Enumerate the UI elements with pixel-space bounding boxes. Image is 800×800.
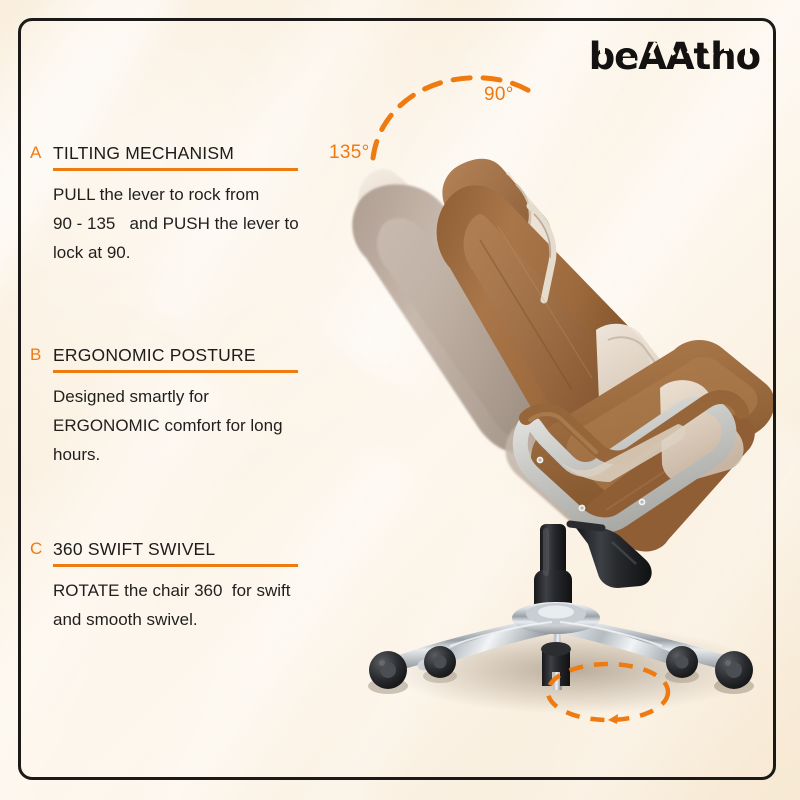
feature-heading-row: C 360 SWIFT SWIVEL <box>30 538 370 567</box>
feature-body-line: PULL the lever to rock from <box>53 180 370 209</box>
feature-block-ergonomic-posture: B ERGONOMIC POSTURE Designed smartly for… <box>30 344 370 469</box>
feature-heading-wrap: TILTING MECHANISM <box>53 142 370 171</box>
brand-logo: beAAtho <box>589 38 760 75</box>
feature-title-a: TILTING MECHANISM <box>53 142 370 164</box>
feature-underline-a <box>53 168 298 171</box>
feature-body-line: and smooth swivel. <box>53 605 370 634</box>
feature-body-line: lock at 90. <box>53 238 370 267</box>
feature-block-tilting-mechanism: A TILTING MECHANISM PULL the lever to ro… <box>30 142 370 267</box>
feature-heading-wrap: ERGONOMIC POSTURE <box>53 344 370 373</box>
feature-body-c: ROTATE the chair 360 for swift and smoot… <box>53 576 370 634</box>
feature-title-b: ERGONOMIC POSTURE <box>53 344 370 366</box>
feature-title-c: 360 SWIFT SWIVEL <box>53 538 370 560</box>
feature-underline-c <box>53 564 298 567</box>
feature-block-swift-swivel: C 360 SWIFT SWIVEL ROTATE the chair 360 … <box>30 538 370 634</box>
feature-heading-wrap: 360 SWIFT SWIVEL <box>53 538 370 567</box>
feature-body-line: hours. <box>53 440 370 469</box>
feature-body-a: PULL the lever to rock from 90 - 135 and… <box>53 180 370 267</box>
feature-body-line: 90 - 135 and PUSH the lever to <box>53 209 370 238</box>
feature-body-line: Designed smartly for <box>53 382 370 411</box>
feature-marker-c: C <box>30 538 53 560</box>
feature-marker-a: A <box>30 142 53 164</box>
infographic-canvas: 90° 135° beAAtho A TILTING MECHANISM PUL… <box>0 0 800 800</box>
feature-body-b: Designed smartly for ERGONOMIC comfort f… <box>53 382 370 469</box>
feature-body-line: ERGONOMIC comfort for long <box>53 411 370 440</box>
office-chair-illustration <box>330 130 800 730</box>
angle-label-90: 90° <box>484 84 514 106</box>
feature-underline-b <box>53 370 298 373</box>
brand-logo-text: beAAtho <box>589 35 760 78</box>
feature-marker-b: B <box>30 344 53 366</box>
feature-body-line: ROTATE the chair 360 for swift <box>53 576 370 605</box>
feature-heading-row: B ERGONOMIC POSTURE <box>30 344 370 373</box>
feature-heading-row: A TILTING MECHANISM <box>30 142 370 171</box>
